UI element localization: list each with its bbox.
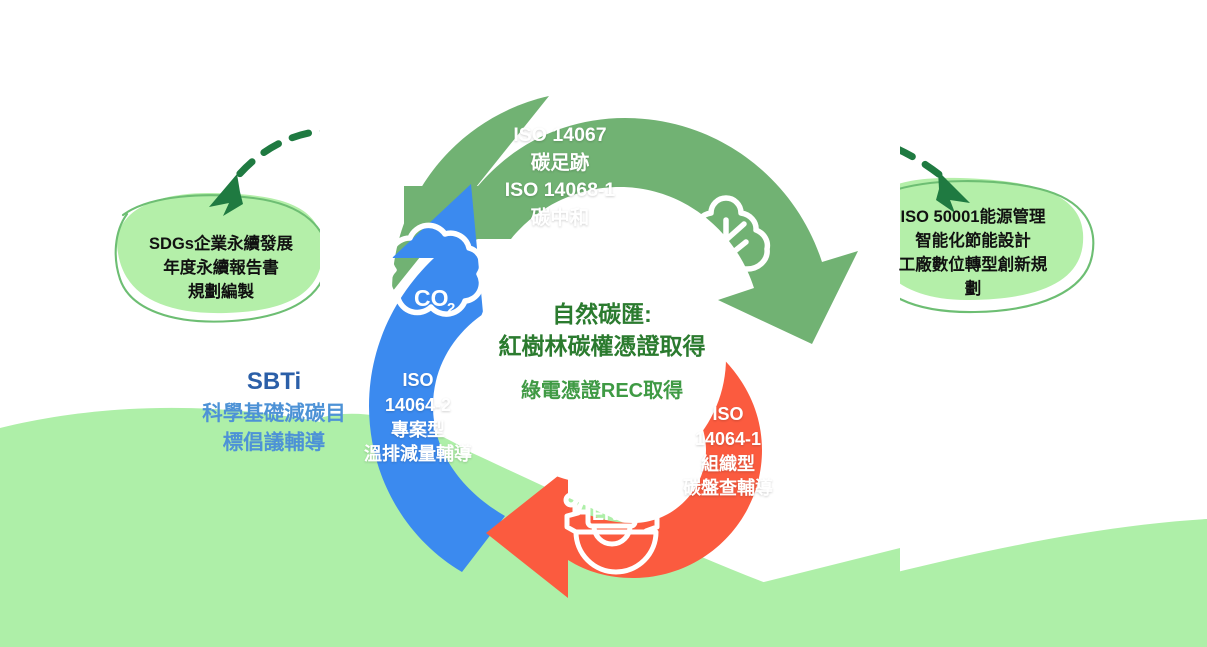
tree-icon [685,198,768,290]
callout-left-label: SDGs企業永續發展 年度永續報告書 規劃編製 [108,233,334,305]
sbti-title: SBTi [170,367,378,398]
red-arrow-label: ISO 14064-1 組織型 碳盤查輔導 [660,402,796,501]
callout-right-label: ISO 50001能源管理 智能化節能設計 工廠數位轉型創新規 劃 [866,206,1080,302]
erp-gear-icon: ERP [566,475,657,572]
center-subtitle: 綠電憑證REC取得 [450,378,754,405]
infographic-canvas: CO 2 ERP ISO 14067 碳足跡 ISO 14068-1 碳中和 I… [0,0,1207,647]
center-main-title: 自然碳匯: 紅樹林碳權憑證取得 [450,298,754,362]
green-arrow-label: ISO 14067 碳足跡 ISO 14068-1 碳中和 [440,122,680,233]
sbti-body: 科學基礎減碳目 標倡議輔導 [166,399,382,457]
svg-text:CO: CO [414,285,449,311]
svg-text:ERP: ERP [592,504,629,524]
